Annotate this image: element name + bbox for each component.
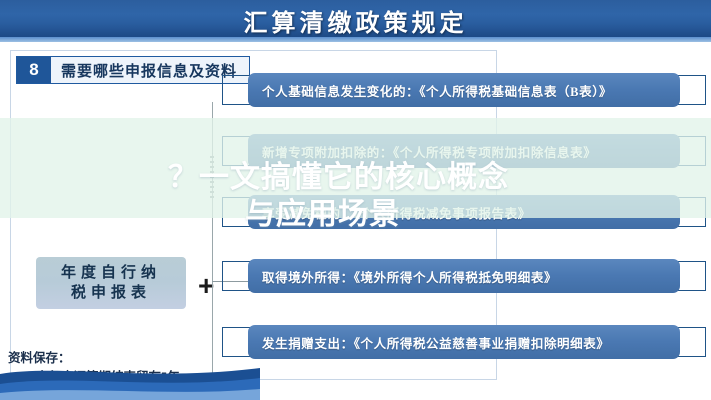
list-item: 取得境外所得：《境外所得个人所得税抵免明细表》: [222, 259, 706, 293]
slide-canvas: 汇算清缴政策规定 8 需要哪些申报信息及资料 年度自行纳 税申报表 + 资料保存…: [0, 0, 711, 400]
item-label: 发生捐赠支出：《个人所得税公益慈善事业捐赠扣除明细表》: [248, 325, 680, 359]
form-card-line2: 税申报表: [71, 283, 151, 303]
section-header: 8 需要哪些申报信息及资料: [16, 56, 250, 84]
item-label: 享受减免税的：《个人所得税减免事项报告表》: [248, 195, 680, 229]
retention-note: 资料保存： 自年度汇算期结束留存5年 （2020年7月1日至2025年6月30日…: [8, 349, 258, 400]
section-heading: 需要哪些申报信息及资料: [51, 57, 249, 83]
item-label: 新增专项附加扣除的：《个人所得税专项附加扣除信息表》: [248, 134, 680, 168]
list-item: 发生捐赠支出：《个人所得税公益慈善事业捐赠扣除明细表》: [222, 325, 706, 359]
retention-note-line1: 资料保存：: [8, 349, 258, 368]
slide-body: 8 需要哪些申报信息及资料 年度自行纳 税申报表 + 资料保存： 自年度汇算期结…: [0, 44, 711, 400]
connector-trunk: [212, 102, 213, 392]
connector-dots: [210, 156, 214, 200]
list-item: 个人基础信息发生变化的：《个人所得税基础信息表（B表）》: [222, 73, 706, 107]
form-card-line1: 年度自行纳: [61, 263, 161, 283]
item-label: 个人基础信息发生变化的：《个人所得税基础信息表（B表）》: [248, 73, 680, 107]
retention-note-line2: 自年度汇算期结束留存5年: [8, 368, 258, 387]
page-title: 汇算清缴政策规定: [0, 3, 711, 38]
retention-note-line3: （2020年7月1日至2025年6月30日）: [8, 388, 258, 400]
annual-self-filing-form-card: 年度自行纳 税申报表: [36, 257, 186, 309]
section-number: 8: [17, 57, 51, 83]
title-banner: 汇算清缴政策规定: [0, 0, 711, 39]
list-item: 享受减免税的：《个人所得税减免事项报告表》: [222, 195, 706, 229]
item-label: 取得境外所得：《境外所得个人所得税抵免明细表》: [248, 259, 680, 293]
list-item: 新增专项附加扣除的：《个人所得税专项附加扣除信息表》: [222, 134, 706, 168]
